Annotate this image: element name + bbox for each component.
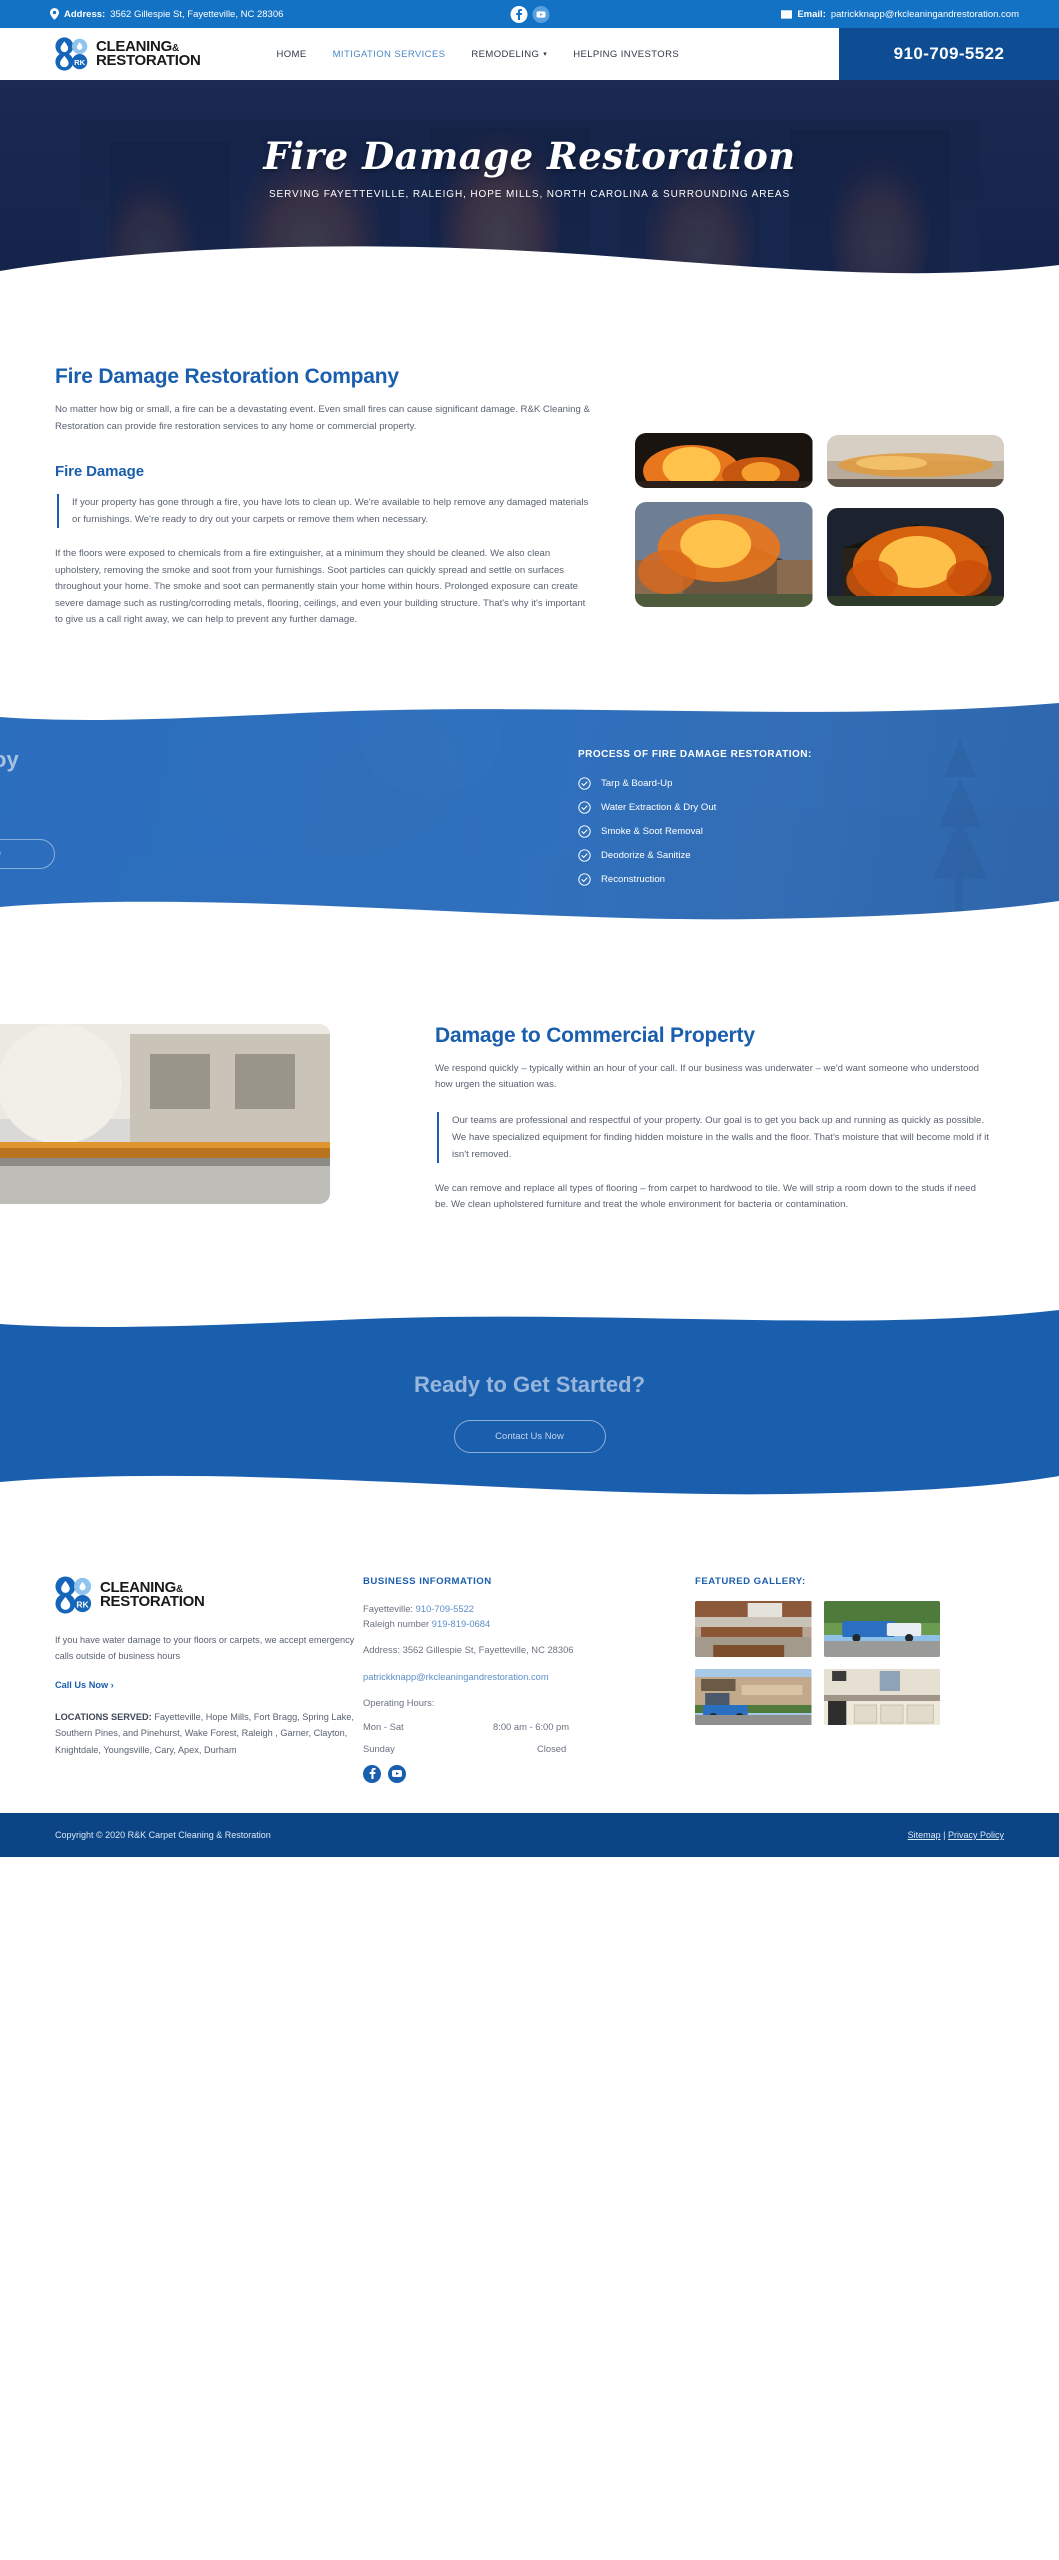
footer-phone-fayetteville-label: Fayetteville: xyxy=(363,1603,413,1614)
fire-photo-1 xyxy=(635,433,813,488)
process-band: ge Destroy all 910-709-5522 ree Quote PR… xyxy=(0,699,1059,929)
fire-damage-paragraph: If the floors were exposed to chemicals … xyxy=(55,546,595,629)
site-logo[interactable]: RK CLEANING& RESTORATION xyxy=(55,37,200,71)
fire-photo-3 xyxy=(635,502,813,607)
youtube-icon[interactable] xyxy=(532,6,549,23)
nav-item-remodeling[interactable]: REMODELING▾ xyxy=(471,49,547,60)
location-pin-icon xyxy=(50,8,59,20)
process-step: Water Extraction & Dry Out xyxy=(578,801,1059,814)
footer-phone-fayetteville-value[interactable]: 910-709-5522 xyxy=(416,1603,474,1614)
cta-bottom-curve xyxy=(0,1462,1059,1504)
process-step-label: Deodorize & Sanitize xyxy=(601,850,691,861)
gallery-item-kitchen-demo[interactable] xyxy=(695,1601,812,1657)
topbar-address: Address: 3562 Gillespie St, Fayetteville… xyxy=(50,8,283,20)
site-footer: RK CLEANING& RESTORATION If you have wat… xyxy=(0,1504,1059,1813)
commercial-paragraph-1: We respond quickly – typically within an… xyxy=(435,1061,989,1094)
band-heading: ge Destroy xyxy=(0,747,520,773)
footer-logo[interactable]: RK CLEANING& RESTORATION xyxy=(55,1576,355,1614)
footer-bottom-bar: Copyright © 2020 R&K Carpet Cleaning & R… xyxy=(0,1813,1059,1857)
rk-logo-icon: RK xyxy=(55,37,89,71)
footer-phones: Fayetteville: 910-709-5522 Raleigh numbe… xyxy=(363,1601,685,1631)
hero-subtitle: SERVING FAYETTEVILLE, RALEIGH, HOPE MILL… xyxy=(269,189,790,200)
free-quote-button[interactable]: ree Quote xyxy=(0,839,55,869)
topbar-email[interactable]: Email: patrickknapp@rkcleaningandrestora… xyxy=(781,9,1019,20)
business-info-heading: BUSINESS INFORMATION xyxy=(363,1576,685,1587)
free-quote-button-label: ree Quote xyxy=(0,848,1,859)
footer-hours-row: Sunday Closed xyxy=(363,1743,685,1754)
commercial-paragraph-2: We can remove and replace all types of f… xyxy=(435,1181,989,1214)
commercial-heading: Damage to Commercial Property xyxy=(435,1024,989,1048)
footer-phone-raleigh-label: Raleigh number xyxy=(363,1618,429,1629)
nav-item-helping-investors[interactable]: HELPING INVESTORS xyxy=(573,49,679,60)
contact-us-now-button[interactable]: Contact Us Now xyxy=(454,1420,606,1453)
process-step: Smoke & Soot Removal xyxy=(578,825,1059,838)
nav-item-mitigation-services[interactable]: MITIGATION SERVICES xyxy=(333,49,446,60)
check-circle-icon xyxy=(578,801,591,814)
company-heading: Fire Damage Restoration Company xyxy=(55,365,595,389)
nav-item-remodeling-label: REMODELING xyxy=(471,49,539,60)
footer-hours-days: Sunday xyxy=(363,1743,493,1754)
address-value: 3562 Gillespie St, Fayetteville, NC 2830… xyxy=(110,9,283,20)
commercial-photo xyxy=(0,1024,330,1204)
fire-damage-quote-text: If your property has gone through a fire… xyxy=(72,494,595,528)
process-step-label: Water Extraction & Dry Out xyxy=(601,802,716,813)
facebook-icon[interactable] xyxy=(510,6,527,23)
company-paragraph: No matter how big or small, a fire can b… xyxy=(55,402,595,435)
process-step: Tarp & Board-Up xyxy=(578,777,1059,790)
footer-hours-days: Mon - Sat xyxy=(363,1721,493,1732)
youtube-icon[interactable] xyxy=(388,1765,406,1783)
process-steps-list: Tarp & Board-Up Water Extraction & Dry O… xyxy=(578,777,1059,886)
process-step-label: Reconstruction xyxy=(601,874,665,885)
privacy-policy-link[interactable]: Privacy Policy xyxy=(948,1830,1004,1840)
facebook-icon[interactable] xyxy=(363,1765,381,1783)
footer-email-row: patrickknapp@rkcleaningandrestoration.co… xyxy=(363,1669,685,1684)
gallery-heading: FEATURED GALLERY: xyxy=(695,1576,1004,1587)
fire-damage-quote: If your property has gone through a fire… xyxy=(57,494,595,528)
gallery-item-trucks[interactable] xyxy=(824,1601,941,1657)
fire-photo-2 xyxy=(827,435,1005,487)
nav-links: HOME MITIGATION SERVICES REMODELING▾ HEL… xyxy=(276,49,679,60)
process-step-label: Tarp & Board-Up xyxy=(601,778,672,789)
check-circle-icon xyxy=(578,873,591,886)
envelope-icon xyxy=(781,10,792,19)
footer-social-links xyxy=(363,1765,685,1783)
cta-section: Ready to Get Started? Contact Us Now xyxy=(0,1304,1059,1504)
process-step: Deodorize & Sanitize xyxy=(578,849,1059,862)
header-phone-button[interactable]: 910-709-5522 xyxy=(839,28,1059,80)
footer-hours-time: Closed xyxy=(537,1743,566,1754)
top-utility-bar: Address: 3562 Gillespie St, Fayetteville… xyxy=(0,0,1059,28)
nav-item-helping-investors-label: HELPING INVESTORS xyxy=(573,49,679,60)
footer-address: Address: 3562 Gillespie St, Fayetteville… xyxy=(363,1642,685,1657)
cta-top-curve xyxy=(0,1304,1059,1340)
footer-legal-links: Sitemap | Privacy Policy xyxy=(908,1830,1004,1840)
hero-bottom-curve xyxy=(0,239,1059,295)
logo-wordmark: CLEANING& RESTORATION xyxy=(96,40,200,68)
footer-about-column: RK CLEANING& RESTORATION If you have wat… xyxy=(55,1576,355,1783)
commercial-quote-text: Our teams are professional and respectfu… xyxy=(452,1112,989,1163)
svg-text:RK: RK xyxy=(76,1599,89,1609)
svg-text:RK: RK xyxy=(74,58,86,67)
contact-us-now-label: Contact Us Now xyxy=(495,1431,564,1442)
sitemap-link[interactable]: Sitemap xyxy=(908,1830,941,1840)
nav-item-home[interactable]: HOME xyxy=(276,49,306,60)
hero-banner: Fire Damage Restoration SERVING FAYETTEV… xyxy=(0,80,1059,295)
logo-line-2: RESTORATION xyxy=(96,54,200,68)
featured-gallery xyxy=(695,1601,940,1725)
header-phone-number: 910-709-5522 xyxy=(894,44,1005,64)
chevron-down-icon: ▾ xyxy=(543,50,547,58)
nav-item-home-label: HOME xyxy=(276,49,306,60)
fire-damage-heading: Fire Damage xyxy=(55,463,595,480)
footer-logo-line-2: RESTORATION xyxy=(100,1595,204,1609)
nav-item-mitigation-services-label: MITIGATION SERVICES xyxy=(333,49,446,60)
footer-locations-label: LOCATIONS SERVED: xyxy=(55,1712,152,1722)
address-label: Address: xyxy=(64,9,105,20)
gallery-item-kitchen-finished[interactable] xyxy=(824,1669,941,1725)
footer-hours-row: Mon - Sat 8:00 am - 6:00 pm xyxy=(363,1721,685,1732)
topbar-social-links xyxy=(510,6,549,23)
link-separator: | xyxy=(941,1830,948,1840)
fire-damage-section: Fire Damage Restoration Company No matte… xyxy=(55,295,1004,659)
footer-logo-wordmark: CLEANING& RESTORATION xyxy=(100,1581,204,1609)
footer-business-column: BUSINESS INFORMATION Fayetteville: 910-7… xyxy=(355,1576,685,1783)
commercial-quote: Our teams are professional and respectfu… xyxy=(437,1112,989,1163)
footer-phone-raleigh-value[interactable]: 919-819-0684 xyxy=(432,1618,490,1629)
footer-email-link[interactable]: patrickknapp@rkcleaningandrestoration.co… xyxy=(363,1671,549,1682)
check-circle-icon xyxy=(578,825,591,838)
band-call-text: all 910-709-5522 xyxy=(0,810,520,821)
check-circle-icon xyxy=(578,777,591,790)
process-step: Reconstruction xyxy=(578,873,1059,886)
process-step-label: Smoke & Soot Removal xyxy=(601,826,703,837)
process-band-bottom-curve xyxy=(0,889,1059,929)
process-band-top-curve xyxy=(0,699,1059,731)
footer-hours-time: 8:00 am - 6:00 pm xyxy=(493,1721,569,1732)
email-value: patrickknapp@rkcleaningandrestoration.co… xyxy=(831,9,1019,20)
cta-title: Ready to Get Started? xyxy=(414,1372,645,1398)
commercial-property-section: Damage to Commercial Property We respond… xyxy=(55,929,1004,1274)
main-navigation-bar: RK CLEANING& RESTORATION HOME MITIGATION… xyxy=(0,28,1059,80)
copyright-text: Copyright © 2020 R&K Carpet Cleaning & R… xyxy=(55,1830,271,1840)
check-circle-icon xyxy=(578,849,591,862)
hero-title: Fire Damage Restoration xyxy=(263,134,795,178)
fire-photo-4 xyxy=(827,508,1005,606)
gallery-item-jared-store[interactable] xyxy=(695,1669,812,1725)
footer-call-us-link[interactable]: Call Us Now › xyxy=(55,1680,114,1690)
footer-hours-label: Operating Hours: xyxy=(363,1695,685,1710)
process-heading: PROCESS OF FIRE DAMAGE RESTORATION: xyxy=(578,749,1059,760)
footer-locations: LOCATIONS SERVED: Fayetteville, Hope Mil… xyxy=(55,1709,355,1758)
footer-gallery-column: FEATURED GALLERY: xyxy=(685,1576,1004,1783)
email-label: Email: xyxy=(797,9,826,20)
fire-photo-grid xyxy=(635,393,1004,607)
footer-blurb: If you have water damage to your floors … xyxy=(55,1632,355,1664)
rk-logo-icon: RK xyxy=(55,1576,93,1614)
